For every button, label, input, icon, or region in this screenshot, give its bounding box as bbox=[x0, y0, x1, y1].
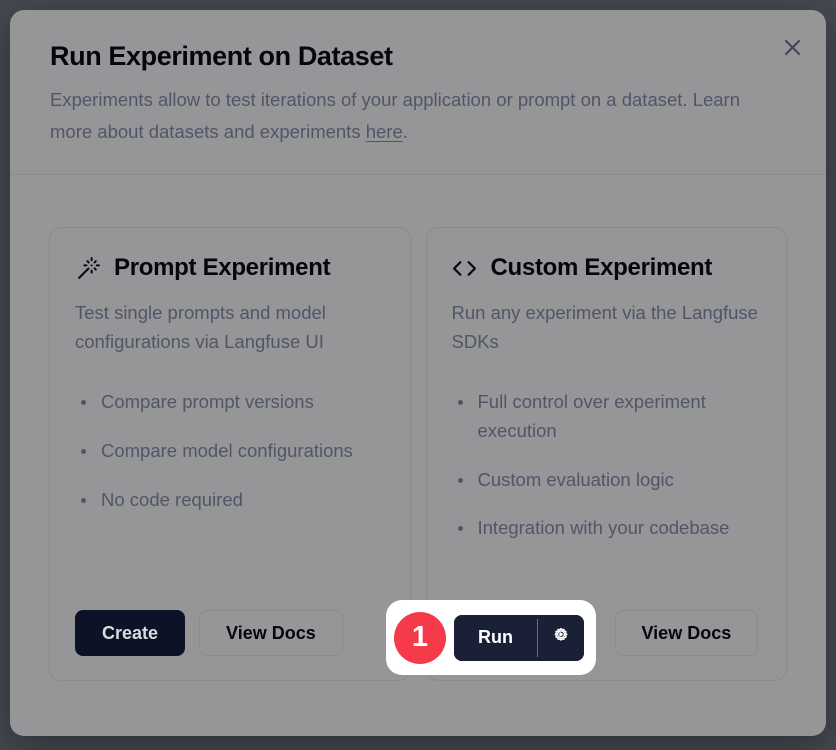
gear-play-icon bbox=[551, 626, 571, 649]
page-title: Run Experiment on Dataset bbox=[50, 40, 786, 72]
list-item: Custom evaluation logic bbox=[452, 466, 762, 495]
custom-experiment-header: Custom Experiment bbox=[452, 254, 762, 282]
annotation-highlight: 1 Run bbox=[386, 600, 596, 675]
list-item: Compare model configurations bbox=[75, 437, 385, 466]
prompt-view-docs-button[interactable]: View Docs bbox=[199, 610, 343, 656]
create-button[interactable]: Create bbox=[75, 610, 185, 656]
learn-more-link[interactable]: here bbox=[366, 121, 403, 142]
list-item: Compare prompt versions bbox=[75, 388, 385, 417]
custom-view-docs-button[interactable]: View Docs bbox=[615, 610, 759, 656]
prompt-experiment-description: Test single prompts and model configurat… bbox=[75, 299, 385, 356]
modal-description: Experiments allow to test iterations of … bbox=[50, 84, 750, 148]
run-split-button[interactable]: Run bbox=[454, 615, 584, 661]
prompt-experiment-actions: Create View Docs bbox=[75, 610, 385, 656]
prompt-experiment-title: Prompt Experiment bbox=[114, 254, 330, 282]
prompt-experiment-header: Prompt Experiment bbox=[75, 254, 385, 282]
modal-description-text-after: . bbox=[403, 121, 408, 142]
magic-wand-icon bbox=[75, 255, 101, 281]
close-button[interactable] bbox=[777, 32, 807, 62]
run-button[interactable]: Run bbox=[454, 615, 537, 661]
custom-experiment-title: Custom Experiment bbox=[491, 254, 713, 282]
custom-experiment-feature-list: Full control over experiment execution C… bbox=[452, 388, 762, 600]
list-item: Full control over experiment execution bbox=[452, 388, 762, 445]
run-settings-button[interactable] bbox=[538, 615, 584, 661]
custom-experiment-description: Run any experiment via the Langfuse SDKs bbox=[452, 299, 762, 356]
annotation-step-badge: 1 bbox=[394, 612, 446, 664]
list-item: Integration with your codebase bbox=[452, 514, 762, 543]
code-brackets-icon bbox=[452, 255, 478, 281]
close-icon bbox=[783, 38, 802, 57]
modal-header: Run Experiment on Dataset Experiments al… bbox=[10, 10, 826, 175]
list-item: No code required bbox=[75, 486, 385, 515]
prompt-experiment-feature-list: Compare prompt versions Compare model co… bbox=[75, 388, 385, 600]
prompt-experiment-card[interactable]: Prompt Experiment Test single prompts an… bbox=[49, 227, 411, 681]
